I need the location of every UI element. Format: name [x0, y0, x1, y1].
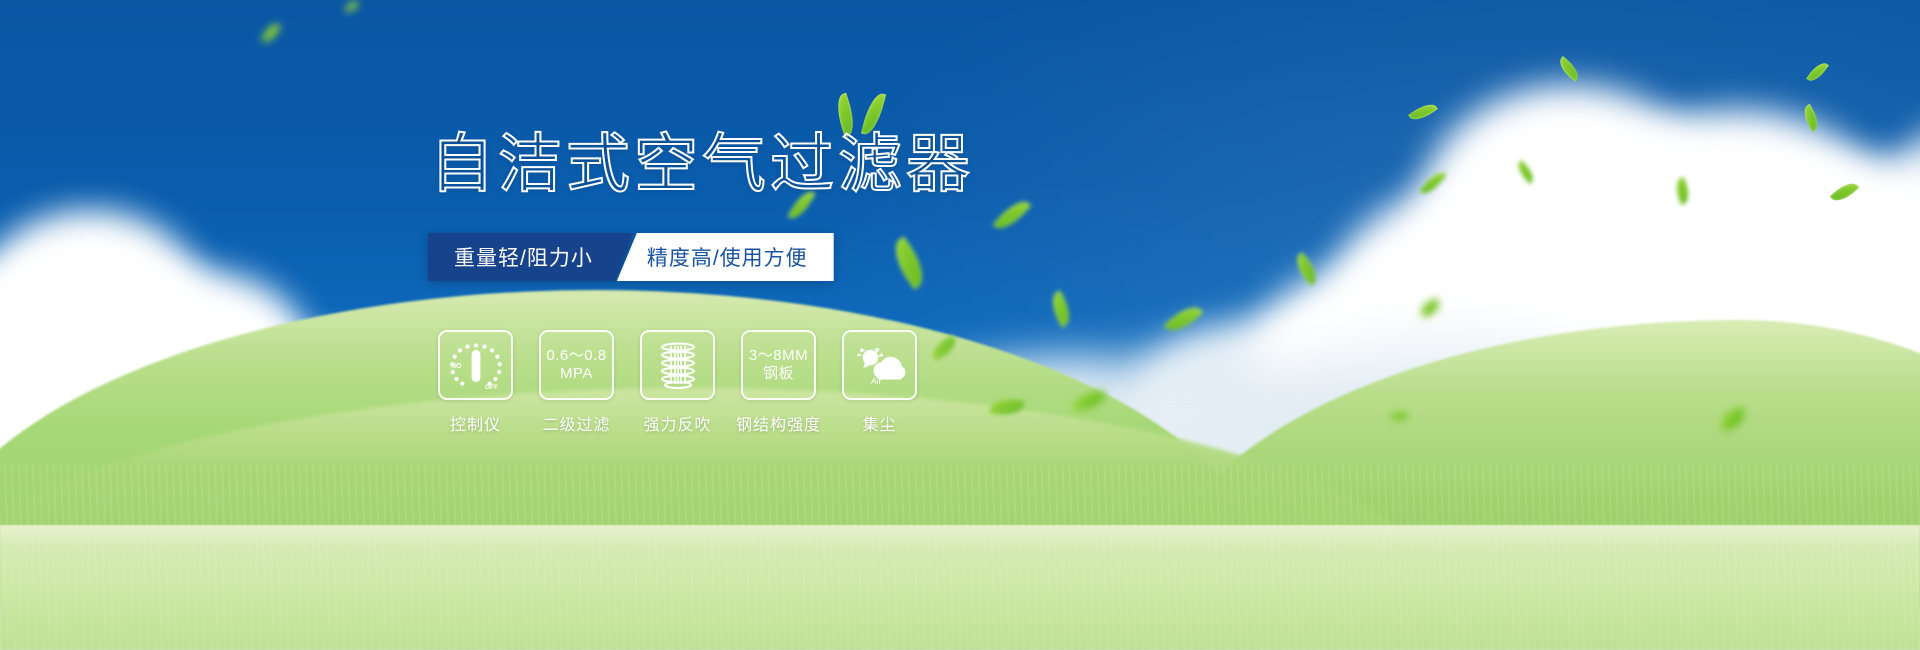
feature-icon-list: NO OFF 控制仪 0.6～0.8 MPA 二级过滤	[438, 330, 917, 435]
svg-text:OFF: OFF	[485, 384, 498, 391]
feature-label: 钢结构强度	[736, 411, 821, 435]
feature-item-secondary-filtration[interactable]: 0.6～0.8 MPA 二级过滤	[539, 330, 614, 435]
steel-material-line: 钢板	[763, 365, 794, 383]
steel-plate-text-icon: 3～8MM 钢板	[741, 330, 816, 400]
feature-label: 控制仪	[450, 411, 501, 435]
feature-item-steel-strength[interactable]: 3～8MM 钢板 钢结构强度	[741, 330, 816, 435]
feature-item-back-blow[interactable]: 强力反吹	[640, 330, 715, 435]
feature-item-dust-collection[interactable]: Air 集尘	[842, 330, 917, 435]
pressure-value-line: 0.6～0.8	[546, 347, 606, 365]
hero-banner: 自洁式空气过滤器 重量轻/阻力小 精度高/使用方便	[0, 0, 1920, 650]
subtitle-tab-secondary[interactable]: 精度高/使用方便	[617, 233, 834, 281]
feature-item-controller[interactable]: NO OFF 控制仪	[438, 330, 513, 435]
subtitle-tab-group: 重量轻/阻力小 精度高/使用方便	[428, 233, 834, 281]
feature-label: 强力反吹	[643, 411, 711, 435]
steel-thickness-line: 3～8MM	[749, 347, 808, 365]
banner-content: 自洁式空气过滤器 重量轻/阻力小 精度高/使用方便	[0, 0, 1920, 650]
gauge-dial-icon: NO OFF	[438, 330, 513, 400]
cloud-sun-icon: Air	[842, 330, 917, 400]
svg-text:NO: NO	[451, 363, 462, 370]
feature-label: 二级过滤	[542, 411, 610, 435]
filter-cartridge-icon	[640, 330, 715, 400]
pressure-text-icon: 0.6～0.8 MPA	[539, 330, 614, 400]
feature-label: 集尘	[862, 411, 896, 435]
subtitle-tab-primary[interactable]: 重量轻/阻力小	[428, 233, 633, 281]
svg-text:Air: Air	[871, 376, 882, 385]
pressure-unit-line: MPA	[560, 365, 593, 383]
page-title: 自洁式空气过滤器	[430, 132, 974, 196]
